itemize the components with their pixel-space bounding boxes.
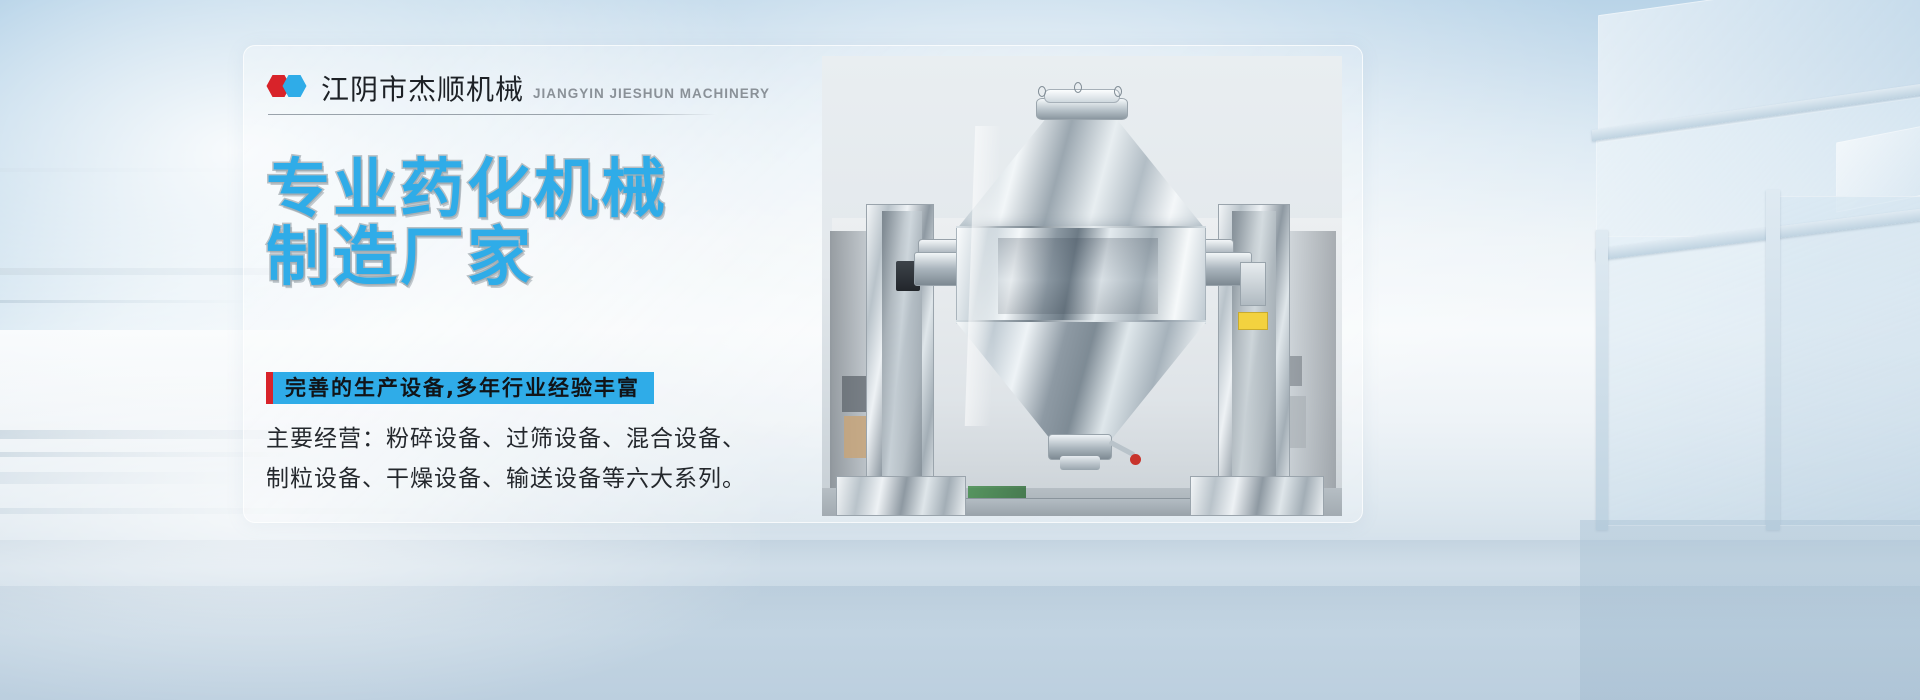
banner-card: 江阴市杰顺机械 JIANGYIN JIESHUN MACHINERY 专业药化机… bbox=[243, 45, 1363, 523]
company-name-en: JIANGYIN JIESHUN MACHINERY bbox=[533, 87, 770, 101]
tagline-accent-bar bbox=[266, 372, 273, 404]
machine-foot-right bbox=[1190, 476, 1324, 516]
logo-divider bbox=[268, 114, 716, 115]
structural-column bbox=[1766, 190, 1780, 530]
manhole-lid bbox=[1044, 89, 1120, 103]
trunnion-left bbox=[914, 252, 962, 286]
logo-mark bbox=[266, 73, 312, 99]
tagline-text: 完善的生产设备,多年行业经验丰富 bbox=[273, 378, 654, 399]
valve-knob bbox=[1130, 454, 1141, 465]
hexagon-blue-icon bbox=[282, 74, 307, 98]
business-scope-text: 主要经营：粉碎设备、过筛设备、混合设备、 制粒设备、干燥设备、输送设备等六大系列… bbox=[266, 420, 786, 499]
lifting-lug bbox=[1038, 86, 1046, 97]
body-line-2: 制粒设备、干燥设备、输送设备等六大系列。 bbox=[266, 460, 786, 500]
brand-logo[interactable]: 江阴市杰顺机械 JIANGYIN JIESHUN MACHINERY bbox=[266, 73, 770, 104]
warning-sticker bbox=[1238, 312, 1268, 330]
shell-reflection bbox=[998, 238, 1158, 314]
floor-plane bbox=[1580, 520, 1920, 700]
architecture-glass-backdrop bbox=[1300, 0, 1920, 700]
lifting-lug bbox=[1114, 86, 1122, 97]
product-photo bbox=[822, 56, 1342, 516]
lifting-lug bbox=[1074, 82, 1082, 93]
glass-pane bbox=[1600, 236, 1780, 526]
structural-column bbox=[1596, 230, 1608, 530]
electrical-box bbox=[1240, 262, 1266, 306]
glass-pane bbox=[1770, 196, 1920, 526]
tagline-banner: 完善的生产设备,多年行业经验丰富 bbox=[266, 372, 654, 404]
company-name-cn: 江阴市杰顺机械 bbox=[321, 76, 524, 104]
machine-foot-left bbox=[836, 476, 966, 516]
body-line-1: 主要经营：粉碎设备、过筛设备、混合设备、 bbox=[266, 420, 786, 460]
discharge-valve-body bbox=[1060, 456, 1100, 470]
